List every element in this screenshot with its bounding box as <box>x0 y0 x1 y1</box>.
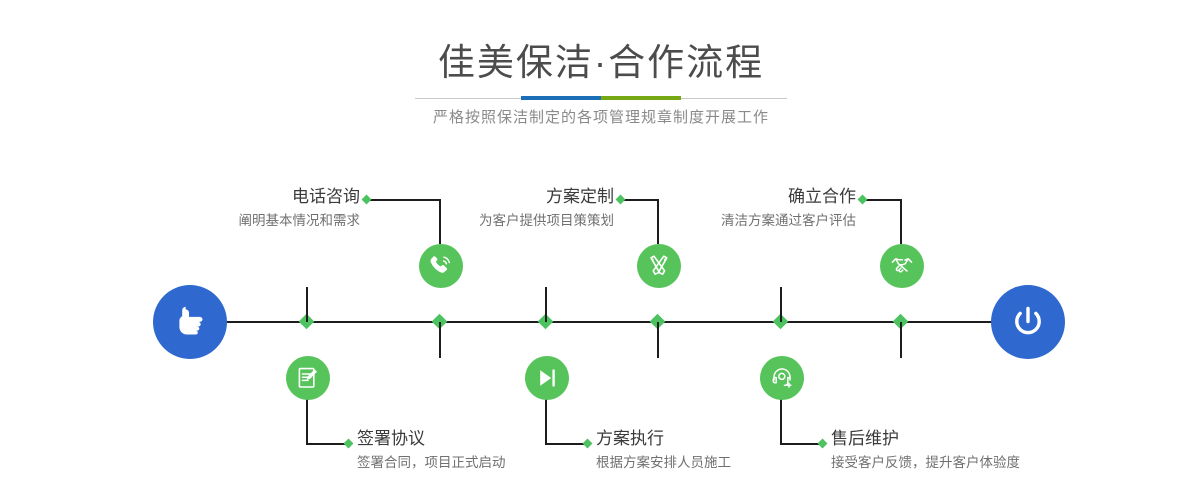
divider-accent-blue <box>521 96 601 100</box>
power-icon <box>1007 301 1049 343</box>
process-flow-infographic: 佳美保洁·合作流程 严格按照保洁制定的各项管理规章制度开展工作 <box>0 0 1202 502</box>
step-title-3: 方案定制 <box>380 186 614 208</box>
connector-horizontal-step-5 <box>862 199 902 201</box>
connector-vertical-step-6-lower <box>780 398 782 444</box>
step-node-4[interactable] <box>525 356 569 400</box>
label-bullet-step-2 <box>344 439 354 449</box>
step-title-4: 方案执行 <box>596 428 846 450</box>
connector-vertical-step-5-lower <box>780 287 782 322</box>
timeline-axis <box>215 321 1005 323</box>
phone-call-icon <box>428 253 454 279</box>
step-desc-2: 签署合同，项目正式启动 <box>357 453 607 473</box>
page-title: 佳美保洁·合作流程 <box>0 40 1202 86</box>
page-subtitle: 严格按照保洁制定的各项管理规章制度开展工作 <box>0 106 1202 130</box>
step-desc-6: 接受客户反馈，提升客户体验度 <box>831 453 1101 473</box>
label-bullet-step-1 <box>362 195 372 205</box>
step-label-4: 方案执行 根据方案安排人员施工 <box>596 428 846 473</box>
step-node-3[interactable] <box>637 244 681 288</box>
connector-vertical-step-5-upper <box>900 200 902 244</box>
connector-vertical-step-3-lower <box>545 287 547 322</box>
label-bullet-step-5 <box>858 195 868 205</box>
step-title-1: 电话咨询 <box>123 186 360 208</box>
step-label-6: 售后维护 接受客户反馈，提升客户体验度 <box>831 428 1101 473</box>
step-label-1: 电话咨询 阐明基本情况和需求 <box>123 186 360 231</box>
step-title-2: 签署协议 <box>357 428 607 450</box>
divider-accent-olive <box>601 96 681 100</box>
step-node-2[interactable] <box>286 356 330 400</box>
headset-support-icon <box>769 365 795 391</box>
connector-vertical-step-1-lower <box>306 287 308 322</box>
connector-horizontal-step-4 <box>545 443 587 445</box>
connector-horizontal-step-6 <box>780 443 822 445</box>
step-desc-4: 根据方案安排人员施工 <box>596 453 846 473</box>
step-label-5: 确立合作 清洁方案通过客户评估 <box>620 186 856 231</box>
pointing-hand-icon <box>170 302 210 342</box>
flow-end-node <box>991 285 1065 359</box>
connector-horizontal-step-2 <box>306 443 348 445</box>
step-node-6[interactable] <box>760 356 804 400</box>
step-label-2: 签署协议 签署合同，项目正式启动 <box>357 428 607 473</box>
pencil-ruler-icon <box>646 253 672 279</box>
step-node-5[interactable] <box>880 244 924 288</box>
step-desc-1: 阐明基本情况和需求 <box>123 211 360 231</box>
step-node-1[interactable] <box>419 244 463 288</box>
title-divider <box>415 96 787 100</box>
flow-start-node <box>153 285 227 359</box>
play-execute-icon <box>534 365 560 391</box>
connector-vertical-step-4-lower <box>545 398 547 444</box>
connector-vertical-step-2-upper <box>439 322 441 358</box>
step-title-6: 售后维护 <box>831 428 1101 450</box>
step-label-3: 方案定制 为客户提供项目策策划 <box>380 186 614 231</box>
document-edit-icon <box>295 365 321 391</box>
step-title-5: 确立合作 <box>620 186 856 208</box>
handshake-icon <box>889 253 915 279</box>
step-desc-3: 为客户提供项目策策划 <box>380 211 614 231</box>
connector-vertical-step-2-lower <box>306 398 308 444</box>
step-desc-5: 清洁方案通过客户评估 <box>620 211 856 231</box>
connector-vertical-step-6-upper <box>900 322 902 358</box>
connector-vertical-step-4-upper <box>657 322 659 358</box>
